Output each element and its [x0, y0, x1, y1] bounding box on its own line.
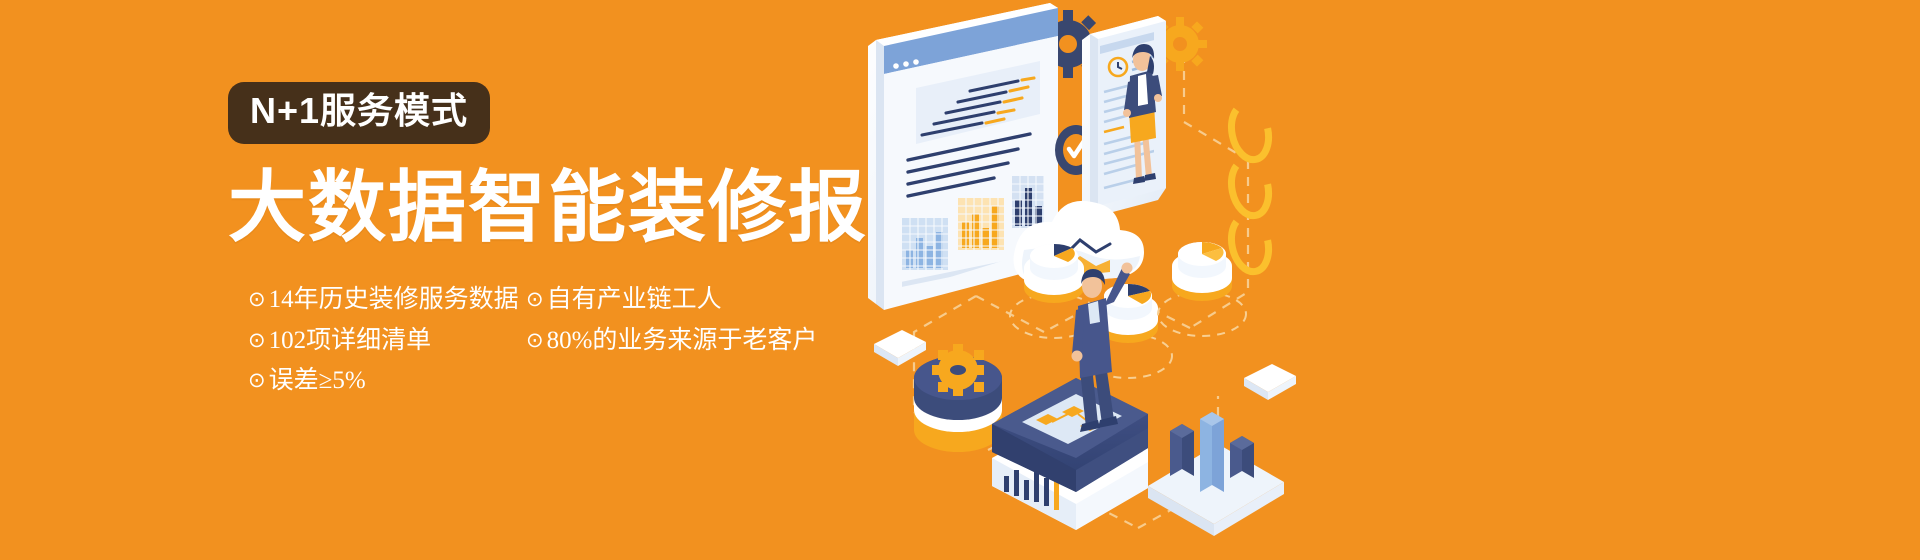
- circled-dot-icon: ⊙: [248, 282, 266, 316]
- feature-item: ⊙ 14年历史装修服务数据: [248, 280, 526, 321]
- isometric-big-data-illustration: [818, 0, 1338, 560]
- circled-dot-icon: ⊙: [248, 323, 266, 357]
- circled-dot-icon: ⊙: [526, 282, 544, 316]
- circled-dot-icon: ⊙: [248, 363, 266, 397]
- pixel-bar-chart-orange: [958, 198, 1004, 252]
- feature-label: 14年历史装修服务数据: [269, 280, 519, 321]
- server-box: [992, 378, 1148, 530]
- pixel-bar-chart-light-blue: [902, 218, 948, 272]
- feature-label: 误差≥5%: [269, 361, 366, 402]
- feature-item: ⊙ 自有产业链工人: [526, 280, 722, 321]
- list-item: ⊙ 14年历史装修服务数据 ⊙ 自有产业链工人: [248, 280, 888, 321]
- feature-label: 102项详细清单: [269, 321, 432, 362]
- feature-item: ⊙ 80%的业务来源于老客户: [526, 321, 817, 362]
- feature-list: ⊙ 14年历史装修服务数据 ⊙ 自有产业链工人 ⊙ 102项详细清单 ⊙ 80%…: [248, 280, 888, 402]
- feature-item: ⊙ 误差≥5%: [248, 361, 526, 402]
- list-item: ⊙ 102项详细清单 ⊙ 80%的业务来源于老客户: [248, 321, 888, 362]
- feature-label: 自有产业链工人: [547, 280, 722, 321]
- bar-chart-pillars: [1148, 412, 1284, 536]
- service-model-badge: N+1服务模式: [228, 82, 490, 144]
- circled-dot-icon: ⊙: [526, 323, 544, 357]
- ring-arcs: [1227, 101, 1274, 275]
- gear-platform: [932, 344, 984, 396]
- data-stack-cylinder: [914, 344, 1002, 452]
- promo-banner: N+1服务模式 大数据智能装修报价 ⊙ 14年历史装修服务数据 ⊙ 自有产业链工…: [0, 0, 1920, 560]
- list-item: ⊙ 误差≥5%: [248, 361, 888, 402]
- feature-label: 80%的业务来源于老客户: [547, 321, 818, 362]
- feature-item: ⊙ 102项详细清单: [248, 321, 526, 362]
